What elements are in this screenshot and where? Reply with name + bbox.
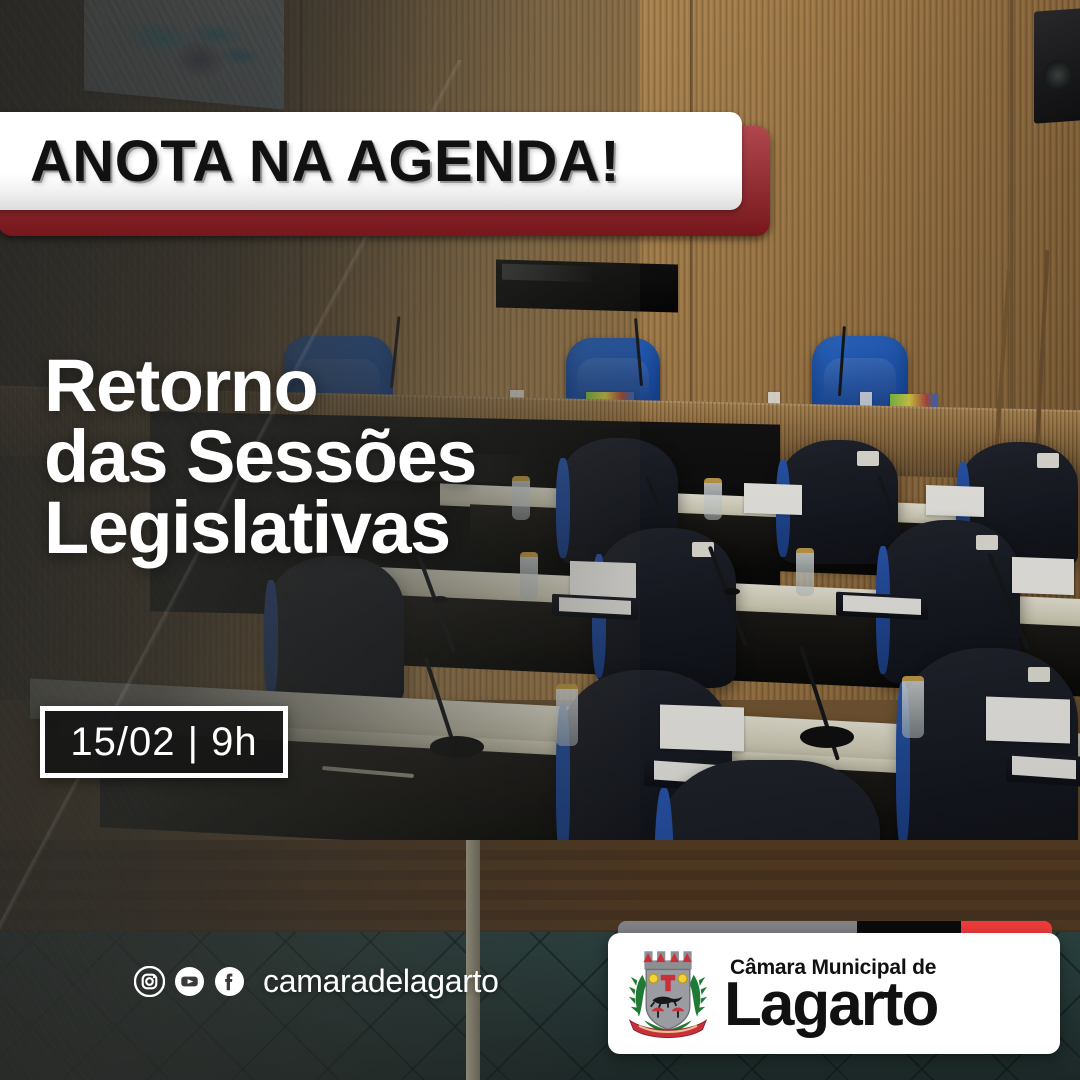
- lagarto-coat-of-arms: [622, 944, 714, 1044]
- logo-card: Câmara Municipal de Lagarto: [608, 921, 1060, 1054]
- instagram-icon[interactable]: [134, 966, 165, 997]
- social-media-row: camaradelagarto: [134, 963, 499, 1000]
- social-media-post: ANOTA NA AGENDA! Retorno das Sessões Leg…: [0, 0, 1080, 1080]
- banner-white-plate: ANOTA NA AGENDA!: [0, 112, 742, 210]
- banner-title: ANOTA NA AGENDA!: [30, 128, 620, 195]
- facebook-icon[interactable]: [214, 966, 245, 997]
- youtube-icon[interactable]: [174, 966, 205, 997]
- social-handle[interactable]: camaradelagarto: [263, 963, 499, 1000]
- date-time-badge: 15/02 | 9h: [40, 706, 288, 778]
- headline-line-1: Retorno: [44, 350, 604, 421]
- headline-line-3: Legislativas: [44, 492, 604, 563]
- logo-text-block: Câmara Municipal de Lagarto: [724, 956, 937, 1031]
- headline-line-2: das Sessões: [44, 421, 604, 492]
- date-time-text: 15/02 | 9h: [70, 720, 257, 765]
- logo-card-body: Câmara Municipal de Lagarto: [608, 933, 1060, 1054]
- logo-title: Lagarto: [724, 978, 937, 1031]
- header-banner: ANOTA NA AGENDA!: [0, 112, 770, 237]
- headline: Retorno das Sessões Legislativas: [44, 350, 604, 563]
